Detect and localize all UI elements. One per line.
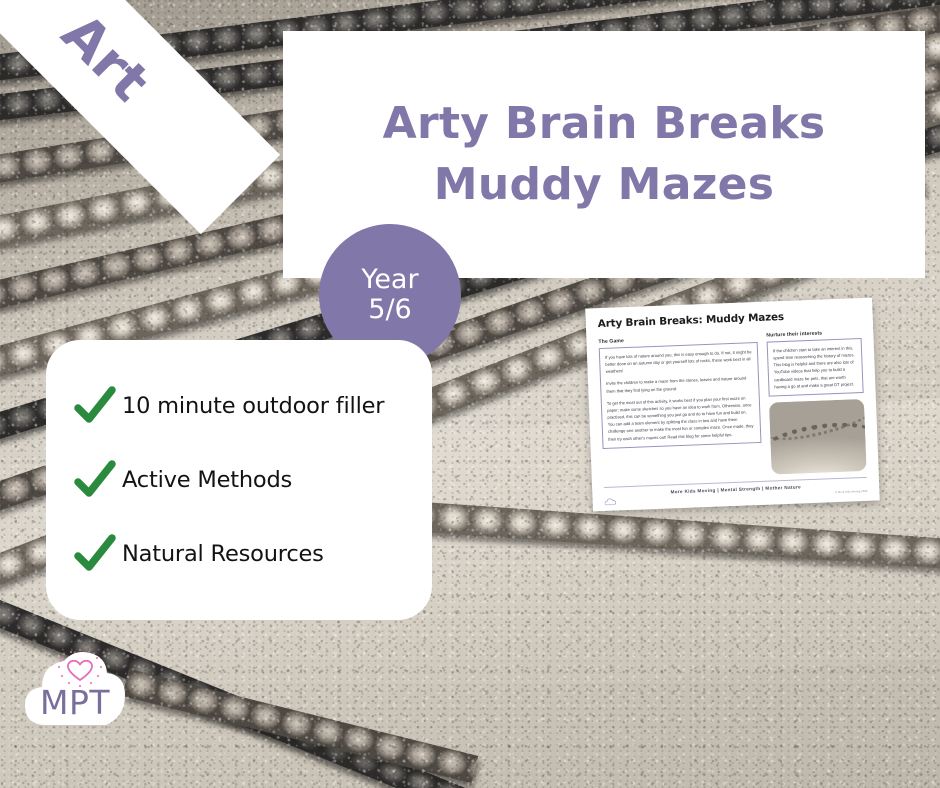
feature-label: Natural Resources <box>122 541 324 567</box>
check-icon <box>72 457 118 503</box>
feature-item: 10 minute outdoor filler <box>72 383 410 429</box>
page-title-line-1: Arty Brain Breaks <box>383 96 826 152</box>
document-right-column: Nurture their interests If the children … <box>766 329 866 474</box>
document-paragraph: To get the most out of this activity, it… <box>607 394 756 443</box>
poster-canvas: Art Arty Brain Breaks Muddy Mazes Year 5… <box>0 0 940 788</box>
year-badge-line-2: 5/6 <box>368 295 411 325</box>
document-paragraph: If you have lots of nature around you, t… <box>605 348 753 375</box>
document-text-box: If the children start to take an interes… <box>767 338 864 397</box>
document-preview[interactable]: Arty Brain Breaks: Muddy Mazes The Game … <box>585 298 880 512</box>
document-paragraph: If the children start to take an interes… <box>773 344 858 390</box>
check-icon <box>72 531 118 577</box>
year-badge-line-1: Year <box>361 265 418 295</box>
features-card: 10 minute outdoor filler Active Methods … <box>46 340 432 620</box>
document-left-column: The Game If you have lots of nature arou… <box>598 333 762 481</box>
document-section-heading: Nurture their interests <box>766 329 861 339</box>
page-title-line-2: Muddy Mazes <box>434 157 775 213</box>
document-paragraph: Invite the children to make a maze from … <box>606 375 753 395</box>
mpt-logo-text: MPT <box>22 683 128 722</box>
feature-label: Active Methods <box>122 467 292 493</box>
document-legal-text: © More Kids Moving 2023 <box>835 490 867 494</box>
feature-item: Active Methods <box>72 457 410 503</box>
feature-label: 10 minute outdoor filler <box>122 393 384 419</box>
feature-item: Natural Resources <box>72 531 410 577</box>
document-title: Arty Brain Breaks: Muddy Mazes <box>598 308 861 330</box>
mpt-logo: MPT <box>22 645 128 729</box>
document-text-box: If you have lots of nature around you, t… <box>599 342 762 449</box>
stone-maze-photo <box>769 399 867 475</box>
cloud-icon <box>604 498 616 506</box>
check-icon <box>72 383 118 429</box>
